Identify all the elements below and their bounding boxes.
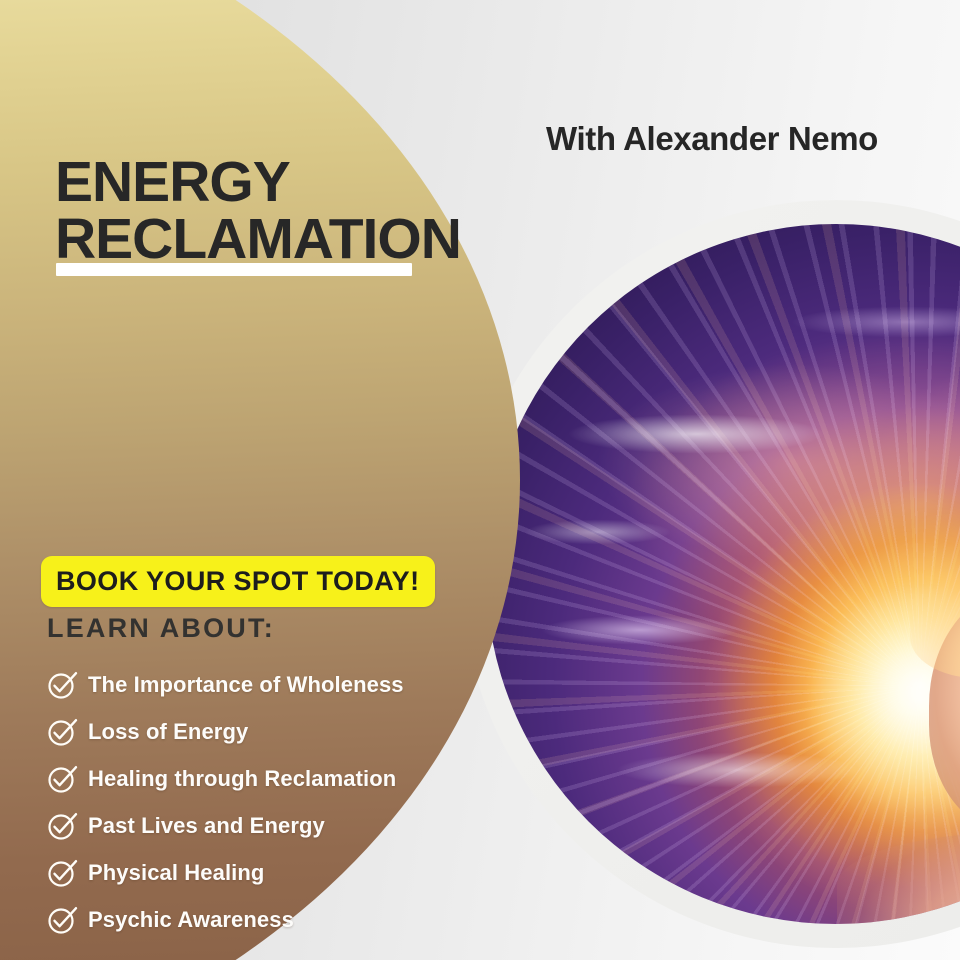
benefit-label: Loss of Energy xyxy=(88,719,248,745)
presenter-name: With Alexander Nemo xyxy=(546,120,878,158)
check-circle-icon xyxy=(45,809,79,843)
list-item: Healing through Reclamation xyxy=(45,756,475,802)
benefit-label: Psychic Awareness xyxy=(88,907,294,933)
benefits-list: The Importance of Wholeness Loss of Ener… xyxy=(45,662,475,944)
promotional-poster: ENERGY RECLAMATION With Alexander Nemo B… xyxy=(0,0,960,960)
title-line-1: ENERGY xyxy=(55,154,475,210)
page-title: ENERGY RECLAMATION xyxy=(55,154,475,267)
benefit-label: The Importance of Wholeness xyxy=(88,672,404,698)
list-item: Physical Healing xyxy=(45,850,475,896)
check-circle-icon xyxy=(45,903,79,937)
book-spot-cta-button[interactable]: BOOK YOUR SPOT TODAY! xyxy=(41,556,435,607)
check-circle-icon xyxy=(45,762,79,796)
title-divider-rule xyxy=(56,263,412,276)
list-item: Past Lives and Energy xyxy=(45,803,475,849)
check-circle-icon xyxy=(45,715,79,749)
figure-hair xyxy=(910,540,960,678)
benefit-label: Physical Healing xyxy=(88,860,264,886)
benefit-label: Healing through Reclamation xyxy=(88,766,396,792)
list-item: Psychic Awareness xyxy=(45,897,475,943)
check-circle-icon xyxy=(45,856,79,890)
benefit-label: Past Lives and Energy xyxy=(88,813,325,839)
meditating-figure xyxy=(857,532,960,924)
energy-aura-image xyxy=(486,224,960,924)
list-item: The Importance of Wholeness xyxy=(45,662,475,708)
check-circle-icon xyxy=(45,668,79,702)
list-item: Loss of Energy xyxy=(45,709,475,755)
learn-about-heading: LEARN ABOUT: xyxy=(47,613,275,644)
title-line-2: RECLAMATION xyxy=(55,211,475,267)
